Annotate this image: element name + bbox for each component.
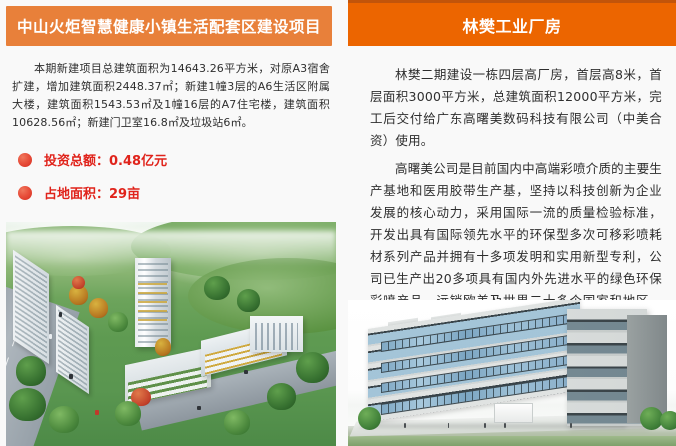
tree <box>115 401 141 426</box>
aerial-render-canvas <box>6 222 336 446</box>
tree <box>224 410 250 435</box>
fact-value: 0.48亿元 <box>109 150 167 169</box>
bullet-dot-icon <box>18 186 32 200</box>
factory-main-facade <box>368 300 580 423</box>
panel-title-zhongshan: 中山火炬智慧健康小镇生活配套区建设项目 <box>6 6 332 46</box>
panel-body-zhongshan: 本期新建项目总建筑面积为14643.26平方米，对原A3宿舍扩建，增加建筑面积2… <box>0 46 340 202</box>
person-figure <box>504 423 506 428</box>
mist-overlay <box>6 231 336 267</box>
tree <box>49 406 79 433</box>
tree <box>89 298 109 318</box>
car <box>244 370 248 374</box>
factory-render-canvas <box>348 300 676 446</box>
car <box>197 406 201 410</box>
tree <box>155 338 172 356</box>
car <box>59 312 62 317</box>
fact-item: 占地面积： 29亩 <box>18 183 330 202</box>
person-figure <box>484 423 486 428</box>
tree <box>237 289 260 311</box>
factory-far-wing <box>627 315 667 423</box>
tree <box>358 407 381 430</box>
aerial-render-residential-complex <box>6 222 336 446</box>
car <box>49 334 52 339</box>
car <box>69 374 73 379</box>
factory-description-paragraph: 林樊二期建设一栋四层高厂房，首层高8米，首层面积3000平方米，总建筑面积120… <box>370 64 662 152</box>
person-figure <box>448 423 450 428</box>
tree <box>9 388 45 422</box>
fact-item: 投资总额： 0.48亿元 <box>18 150 330 169</box>
project-panel-zhongshan: 中山火炬智慧健康小镇生活配套区建设项目 本期新建项目总建筑面积为14643.26… <box>0 0 340 446</box>
fact-label: 投资总额： <box>44 150 109 169</box>
fact-label: 占地面积： <box>44 183 109 202</box>
project-showcase-page: 中山火炬智慧健康小镇生活配套区建设项目 本期新建项目总建筑面积为14643.26… <box>0 0 676 446</box>
tree <box>16 356 46 385</box>
panel-title-linfan: 林樊工业厂房 <box>348 0 676 46</box>
lawn-strip <box>348 436 676 446</box>
tree <box>204 276 230 301</box>
key-facts-list-zhongshan: 投资总额： 0.48亿元 占地面积： 29亩 <box>12 150 330 202</box>
car <box>95 410 99 415</box>
fact-value: 29亩 <box>109 183 140 202</box>
building-slab-b <box>56 305 89 394</box>
tree <box>72 276 85 289</box>
tree <box>108 312 128 332</box>
residential-tower <box>135 258 171 348</box>
tree <box>660 411 676 430</box>
entrance-bay <box>494 403 533 423</box>
factory-building-render <box>348 300 676 446</box>
project-description-paragraph: 本期新建项目总建筑面积为14643.26平方米，对原A3宿舍扩建，增加建筑面积2… <box>12 60 330 132</box>
office-building <box>250 316 303 352</box>
project-panel-linfan: 林樊工业厂房 林樊二期建设一栋四层高厂房，首层高8米，首层面积3000平方米，总… <box>340 0 676 446</box>
tree <box>267 383 297 410</box>
bullet-dot-icon <box>18 153 32 167</box>
tree <box>296 352 329 383</box>
